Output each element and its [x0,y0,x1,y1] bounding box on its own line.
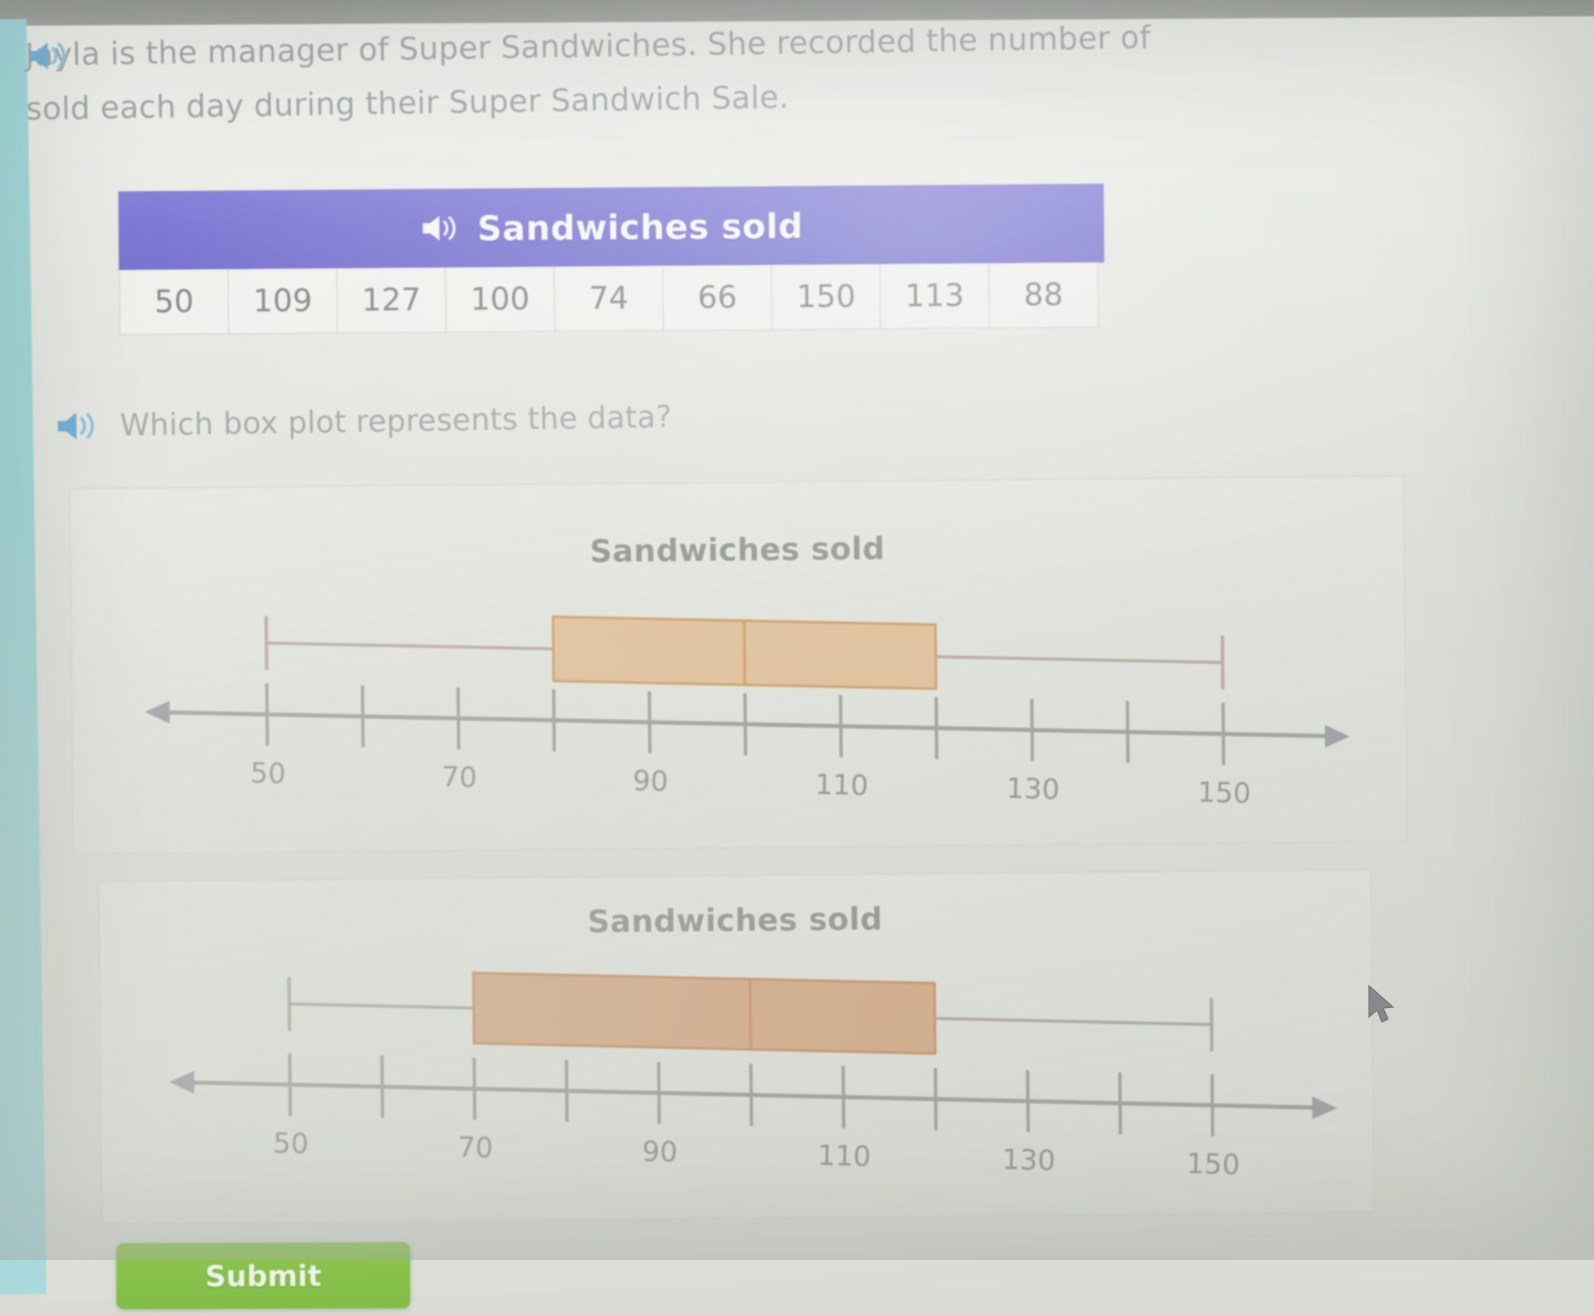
answer-option-2[interactable]: Sandwiches sold 507090110130150 [98,869,1374,1225]
svg-text:70: 70 [441,760,477,794]
svg-text:50: 50 [250,756,286,790]
svg-text:110: 110 [815,768,869,802]
box-plot-1: 507090110130150 [70,476,1407,853]
table-cell: 100 [445,267,555,333]
submit-button-label: Submit [205,1258,321,1293]
table-cell: 66 [662,265,772,331]
sub-question-prompt: Which box plot represents the data? [53,392,672,451]
svg-text:150: 150 [1186,1147,1240,1181]
data-table: Sandwiches sold 50 109 127 100 74 66 150… [118,184,1104,336]
svg-text:130: 130 [1002,1143,1056,1177]
box-plot-2: 507090110130150 [99,870,1373,1224]
submit-button[interactable]: Submit [116,1242,410,1309]
table-cell: 50 [119,269,229,335]
table-cell: 113 [880,263,990,329]
svg-text:50: 50 [273,1127,309,1161]
speaker-icon[interactable] [419,211,461,244]
svg-text:150: 150 [1197,776,1251,810]
speaker-icon[interactable] [25,38,71,74]
svg-text:130: 130 [1006,772,1060,806]
speaker-icon[interactable] [53,408,99,444]
answer-option-1[interactable]: Sandwiches sold 507090110130150 [69,475,1408,854]
table-cell: 109 [228,268,338,334]
table-cell: 74 [554,266,664,332]
table-cell: 150 [771,264,881,330]
svg-text:90: 90 [642,1135,678,1169]
data-table-header: Sandwiches sold [118,184,1104,270]
svg-text:110: 110 [817,1139,871,1173]
table-cell: 127 [336,268,446,334]
table-cell: 88 [988,262,1098,328]
svg-text:90: 90 [632,764,668,798]
data-table-row: 50 109 127 100 74 66 150 113 88 [119,262,1105,335]
svg-text:70: 70 [457,1131,493,1165]
sub-question-label: Which box plot represents the data? [53,392,672,451]
data-table-header-label: Sandwiches sold [477,205,803,248]
mouse-cursor [1366,984,1400,1034]
